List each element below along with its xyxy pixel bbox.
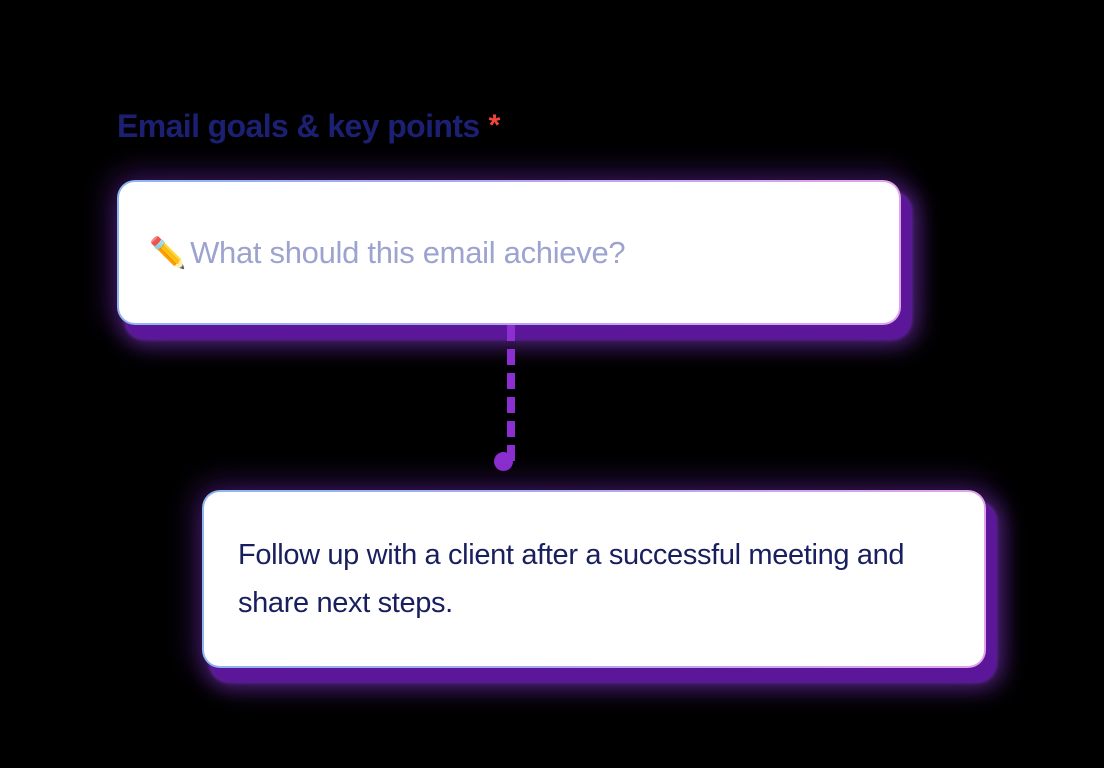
connector-line-segment xyxy=(507,325,515,461)
required-asterisk-icon: * xyxy=(489,109,500,142)
field-label-text: Email goals & key points xyxy=(117,108,480,144)
goal-answer-text: Follow up with a client after a successf… xyxy=(238,531,950,627)
goal-input-card[interactable]: ✏️ What should this email achieve? xyxy=(117,180,901,325)
goal-input-placeholder: ✏️ What should this email achieve? xyxy=(149,235,625,271)
connector-dashed-line xyxy=(507,325,515,461)
goal-input-field[interactable]: ✏️ What should this email achieve? xyxy=(119,182,899,323)
pencil-icon: ✏️ xyxy=(149,239,186,269)
connector-dot-icon xyxy=(494,452,513,471)
field-label: Email goals & key points* xyxy=(117,104,500,148)
goal-answer-body[interactable]: Follow up with a client after a successf… xyxy=(204,492,984,666)
goal-answer-card[interactable]: Follow up with a client after a successf… xyxy=(202,490,986,668)
goal-input-placeholder-text: What should this email achieve? xyxy=(190,235,625,271)
